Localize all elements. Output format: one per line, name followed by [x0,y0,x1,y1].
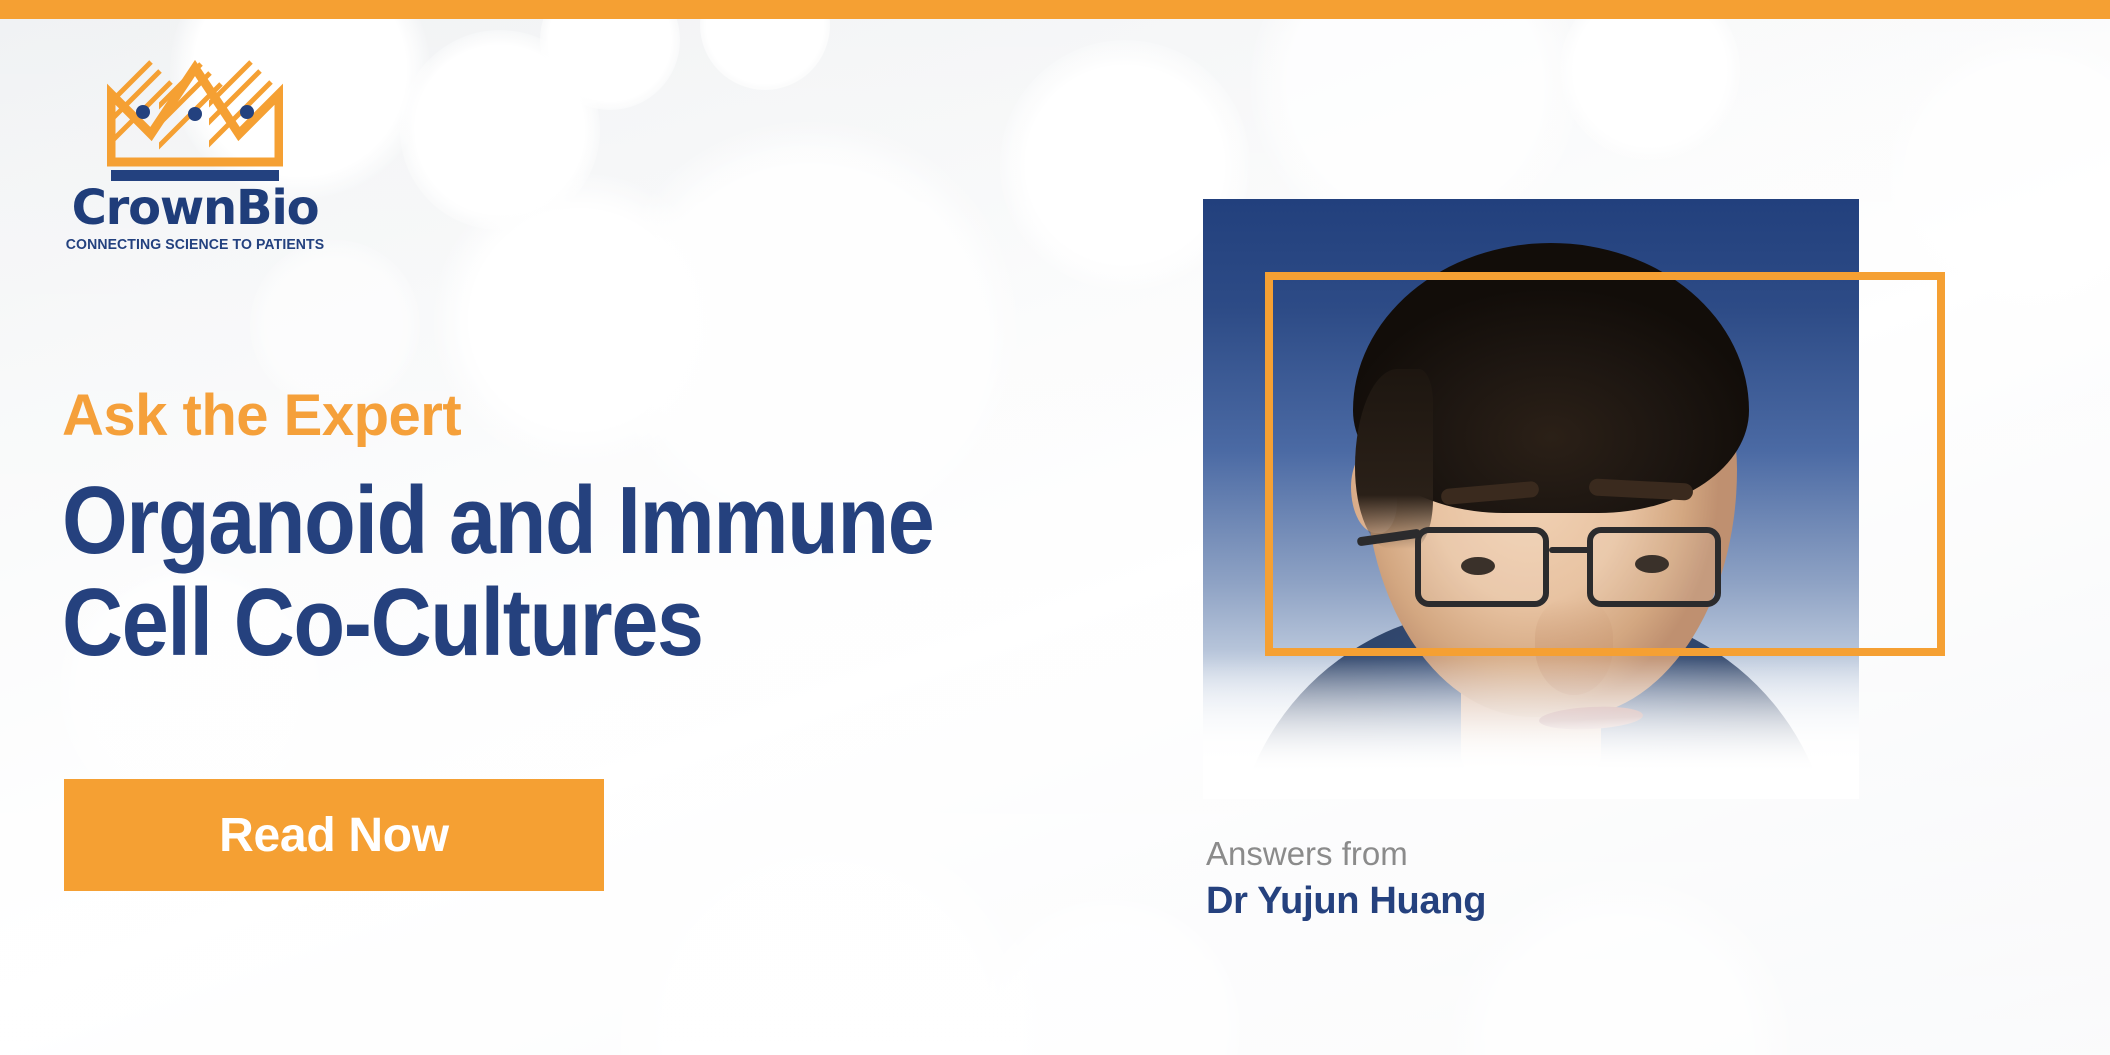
promo-banner: CrownBio CONNECTING SCIENCE TO PATIENTS … [0,0,2110,1055]
crown-icon [107,58,283,182]
logo-tagline: CONNECTING SCIENCE TO PATIENTS [64,237,326,253]
eyebrow-text: Ask the Expert [62,382,461,449]
crownbio-logo[interactable]: CrownBio CONNECTING SCIENCE TO PATIENTS [60,58,330,253]
attribution-prefix: Answers from [1206,833,1486,874]
expert-name: Dr Yujun Huang [1206,880,1486,923]
attribution: Answers from Dr Yujun Huang [1206,833,1486,923]
read-now-label: Read Now [219,808,449,863]
orange-accent-frame [1265,272,1945,656]
read-now-button[interactable]: Read Now [64,779,604,891]
top-accent-bar [0,0,2110,19]
logo-wordmark: CrownBio [60,184,330,232]
portrait-fade-overlay [1203,649,1859,799]
page-title: Organoid and Immune Cell Co-Cultures [62,470,933,674]
